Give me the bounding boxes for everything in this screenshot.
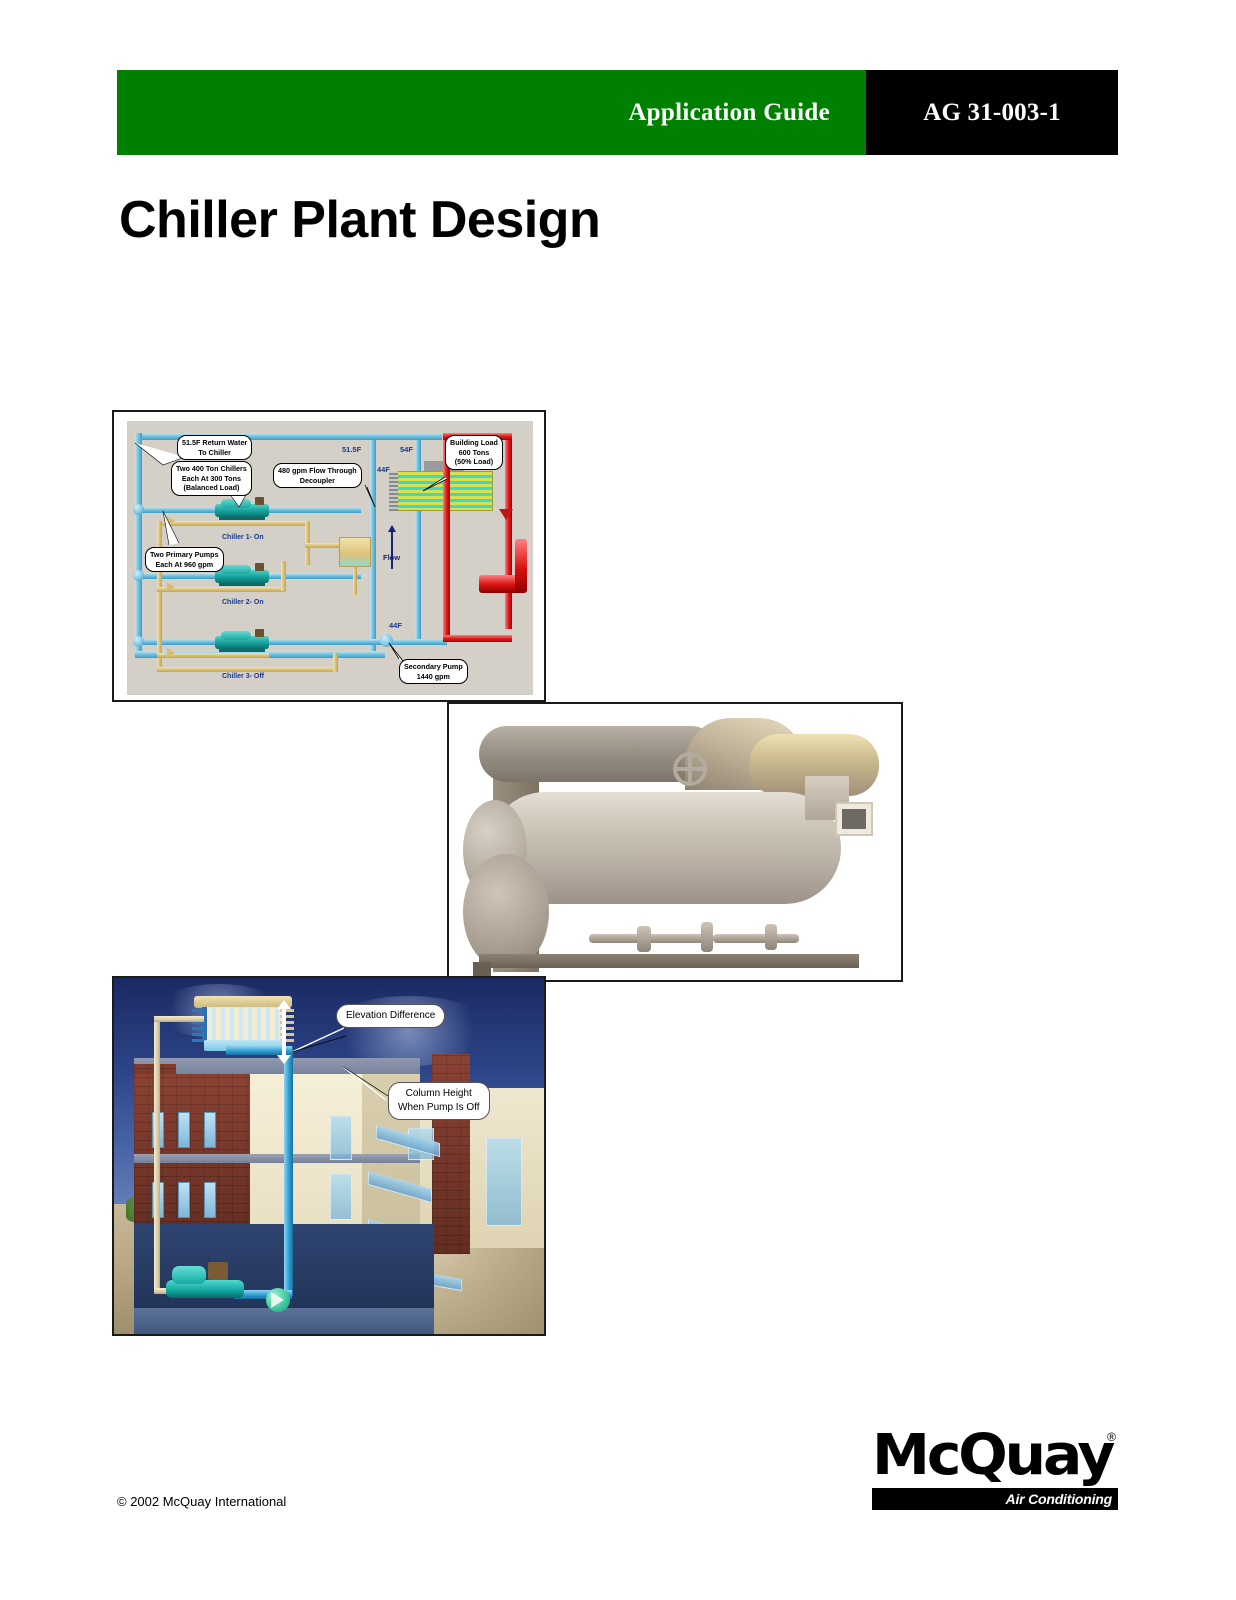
window-6 xyxy=(204,1182,216,1218)
callout-building-load-line3: (50% Load) xyxy=(450,457,498,467)
glass-curtain-2 xyxy=(330,1174,352,1220)
callout-primary-pumps-line2: Each At 960 gpm xyxy=(150,560,219,570)
glass-curtain-right xyxy=(486,1138,522,1226)
callout-secondary-pump-line2: 1440 gpm xyxy=(404,672,463,682)
callout-secondary-pump: Secondary Pump 1440 gpm xyxy=(399,659,468,684)
callout-column-height-line2: When Pump Is Off xyxy=(398,1101,480,1115)
callout-return-water-line2: To Chiller xyxy=(182,448,247,458)
window-5 xyxy=(178,1182,190,1218)
pipe-return-header xyxy=(135,433,401,440)
pipe-secondary-supply xyxy=(415,433,421,645)
basement-floor xyxy=(134,1308,434,1334)
figure-plant-schematic: Chiller 1- On Chiller 2- On Chiller 3- O… xyxy=(112,410,546,702)
chiller-handwheel-icon xyxy=(673,752,707,786)
mcquay-tagline-bar: Air Conditioning xyxy=(872,1488,1118,1510)
pipe-load-right xyxy=(505,433,512,629)
secondary-pump xyxy=(380,634,393,647)
flow-label: Flow xyxy=(383,553,400,562)
header-band: Application Guide AG 31-003-1 xyxy=(117,70,1118,155)
header-green-panel: Application Guide xyxy=(117,70,866,155)
temp-secondary-supply: 44F xyxy=(389,621,402,630)
chiller-1-label: Chiller 1- On xyxy=(222,534,264,541)
document-number-label: AG 31-003-1 xyxy=(923,99,1061,127)
basement-chiller-unit xyxy=(166,1260,244,1304)
callout-return-water-line1: 51.5F Return Water xyxy=(182,438,247,448)
chiller-2-label: Chiller 2- On xyxy=(222,599,264,606)
expansion-tank xyxy=(339,537,371,567)
pipe-load-bottom xyxy=(443,635,512,642)
pipe-tank-drop xyxy=(353,567,357,595)
pipe-tower-supply xyxy=(154,1016,204,1022)
callout-building-load-line1: Building Load xyxy=(450,438,498,448)
callout-chillers-line2: Each At 300 Tons xyxy=(176,474,247,484)
window-2 xyxy=(178,1112,190,1148)
pipe-primary1-riser xyxy=(157,521,162,669)
pipe-coil-return xyxy=(370,433,442,440)
chiller-photo-canvas xyxy=(449,704,901,980)
pipe-secondary-loop xyxy=(385,639,447,645)
primary-pump-3 xyxy=(133,636,144,647)
registered-trademark-icon: ® xyxy=(1107,1430,1116,1444)
callout-building-load-line2: 600 Tons xyxy=(450,448,498,458)
figure-chiller-photo xyxy=(447,702,903,982)
pipe-primary3-a xyxy=(157,667,337,672)
primary-pump-1 xyxy=(133,504,144,515)
figure-building-cutaway: Elevation Difference Column Height When … xyxy=(112,976,546,1336)
window-3 xyxy=(204,1112,216,1148)
floor-slab-2 xyxy=(134,1154,420,1163)
pipe-condenser-return-riser xyxy=(284,1046,293,1296)
page-title: Chiller Plant Design xyxy=(119,190,600,250)
chiller-unit-1 xyxy=(215,497,269,519)
callout-secondary-pump-line1: Secondary Pump xyxy=(404,662,463,672)
temp-coil-leaving: 54F xyxy=(400,445,413,454)
callout-decoupler-line2: Decoupler xyxy=(278,476,357,486)
header-black-panel: AG 31-003-1 xyxy=(866,70,1118,155)
pipe-return-riser xyxy=(135,433,142,657)
chiller-lower-pipework xyxy=(589,918,819,958)
callout-column-height-line1: Column Height xyxy=(398,1087,480,1101)
mcquay-logo: McQuay ® Air Conditioning xyxy=(872,1428,1118,1518)
callout-return-water: 51.5F Return Water To Chiller xyxy=(177,435,252,460)
callout-primary-pumps-line1: Two Primary Pumps xyxy=(150,550,219,560)
callout-building-load: Building Load 600 Tons (50% Load) xyxy=(445,435,503,470)
load-control-valve xyxy=(499,509,513,520)
condenser-water-pump xyxy=(266,1288,290,1312)
glass-curtain-1 xyxy=(330,1116,352,1160)
elevation-difference-arrow xyxy=(282,1008,286,1056)
mcquay-tagline: Air Conditioning xyxy=(1006,1491,1112,1507)
temp-coil-entering: 44F xyxy=(377,465,390,474)
pipe-primary2-riser xyxy=(281,561,286,591)
chiller-display-screen xyxy=(835,802,873,836)
pipe-primary3-riser xyxy=(333,653,338,672)
copyright-notice: © 2002 McQuay International xyxy=(117,1494,286,1509)
valve-chiller2 xyxy=(167,582,175,592)
pipe-primary1-a xyxy=(157,521,309,526)
callout-primary-pumps: Two Primary Pumps Each At 960 gpm xyxy=(145,547,224,572)
callout-chillers-line3: (Balanced Load) xyxy=(176,483,247,493)
valve-chiller1 xyxy=(167,516,175,526)
schematic-canvas: Chiller 1- On Chiller 2- On Chiller 3- O… xyxy=(127,421,533,695)
load-pump-riser xyxy=(515,539,527,593)
pipe-condenser-supply-riser xyxy=(154,1016,160,1294)
chiller-condenser-head xyxy=(463,854,549,970)
chiller-3-label: Chiller 3- Off xyxy=(222,673,264,680)
flow-direction-arrow xyxy=(391,531,393,569)
callout-two-chillers: Two 400 Ton Chillers Each At 300 Tons (B… xyxy=(171,461,252,496)
callout-decoupler-flow: 480 gpm Flow Through Decoupler xyxy=(273,463,362,488)
callout-decoupler-line1: 480 gpm Flow Through xyxy=(278,466,357,476)
chiller-unit-3 xyxy=(215,629,269,651)
callout-elevation-difference: Elevation Difference xyxy=(336,1004,445,1028)
ahu-filter xyxy=(389,471,398,511)
pipe-primary2-a xyxy=(157,587,285,592)
application-guide-label: Application Guide xyxy=(628,99,830,127)
primary-pump-2 xyxy=(133,570,144,581)
building-canvas: Elevation Difference Column Height When … xyxy=(114,978,544,1334)
mcquay-wordmark: McQuay xyxy=(872,1428,1112,1484)
pipe-primary1-to-tank xyxy=(305,543,341,548)
valve-chiller3 xyxy=(167,648,175,658)
temp-return-supply-header: 51.5F xyxy=(342,445,361,454)
callout-chillers-line1: Two 400 Ton Chillers xyxy=(176,464,247,474)
callout-column-height: Column Height When Pump Is Off xyxy=(388,1082,490,1120)
